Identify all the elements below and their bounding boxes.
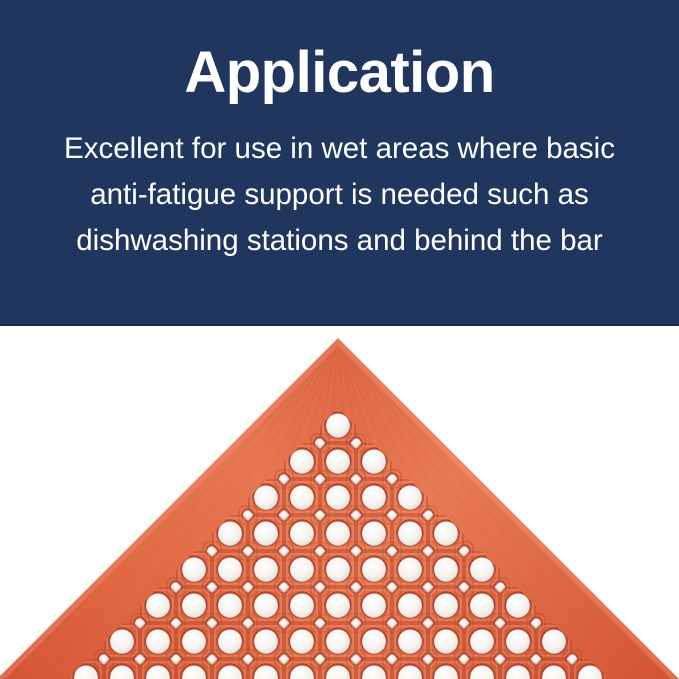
product-info-card: Application Excellent for use in wet are…	[0, 0, 679, 679]
product-photo	[0, 326, 679, 679]
application-description: Excellent for use in wet areas where bas…	[20, 126, 660, 264]
anti-fatigue-mat-image	[0, 326, 679, 679]
page-title: Application	[184, 44, 494, 102]
description-line-3: dishwashing stations and behind the bar	[20, 218, 660, 264]
description-line-1: Excellent for use in wet areas where bas…	[20, 126, 660, 172]
application-banner: Application Excellent for use in wet are…	[0, 0, 679, 326]
description-line-2: anti-fatigue support is needed such as	[20, 172, 660, 218]
